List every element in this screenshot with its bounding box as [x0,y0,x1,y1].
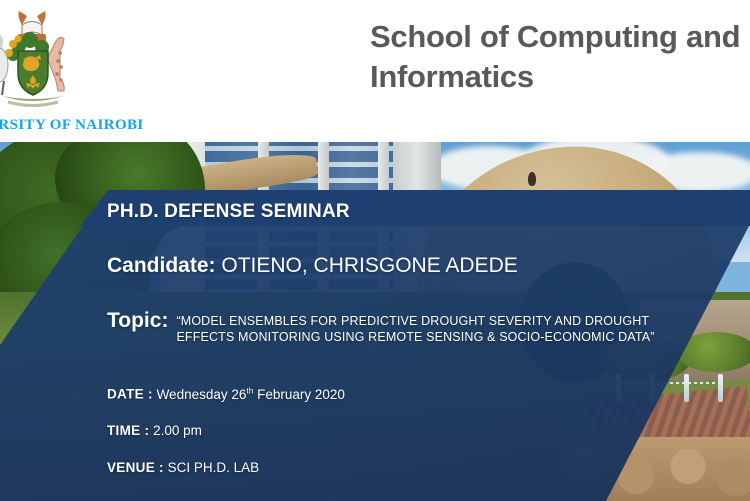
seminar-details: PH.D. DEFENSE SEMINAR Candidate: OTIENO,… [0,142,750,501]
university-wordmark: UNIVERSITY OF NAIROBI [0,117,144,134]
time-row: TIME : 2.00 pm [107,423,202,438]
time-label: TIME : [107,423,149,438]
time-value: 2.00 pm [153,423,202,438]
date-value: Wednesday 26th February 2020 [157,387,345,402]
date-label: DATE : [107,387,153,402]
seminar-poster: UNIVERSITY OF NAIROBI School of Computin… [0,0,750,501]
topic-label: Topic: [107,309,176,333]
venue-label: VENUE : [107,460,164,475]
topic-text: “MODEL ENSEMBLES FOR PREDICTIVE DROUGHT … [176,309,696,345]
candidate-row: Candidate: OTIENO, CHRISGONE ADEDE [107,254,518,278]
topic-row: Topic: “MODEL ENSEMBLES FOR PREDICTIVE D… [107,309,696,345]
venue-row: VENUE : SCI PH.D. LAB [107,460,259,475]
date-row: DATE : Wednesday 26th February 2020 [107,385,345,402]
page-header: UNIVERSITY OF NAIROBI School of Computin… [0,0,750,142]
seminar-kicker: PH.D. DEFENSE SEMINAR [107,201,350,223]
page-title-line-2: Informatics [370,57,750,97]
page-title: School of Computing and Informatics [370,17,750,97]
candidate-label: Candidate: [107,254,216,277]
page-title-line-1: School of Computing and [370,17,750,57]
venue-value: SCI PH.D. LAB [168,460,260,475]
candidate-name: OTIENO, CHRISGONE ADEDE [221,254,517,277]
university-crest-icon [0,3,82,115]
